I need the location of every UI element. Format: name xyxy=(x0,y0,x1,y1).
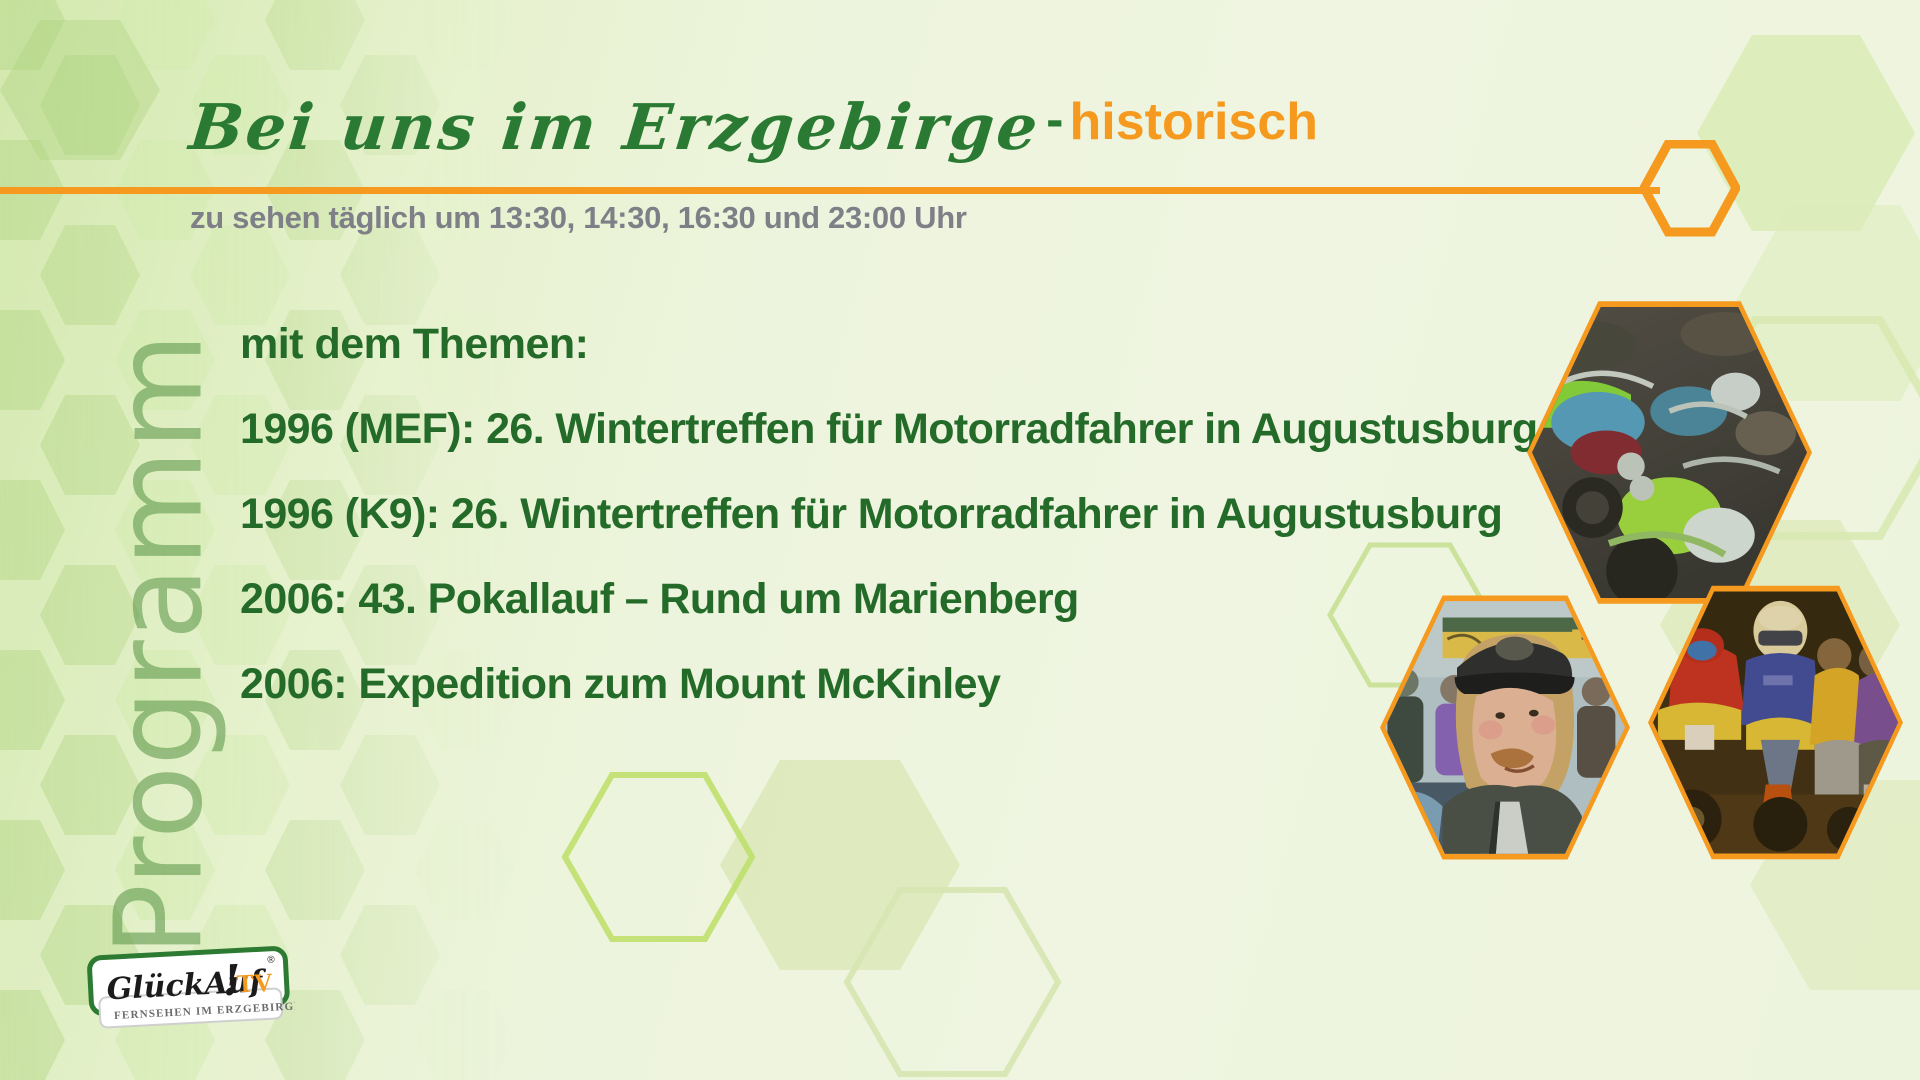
topic-list-heading: mit dem Themen: xyxy=(240,320,1538,369)
header-rule xyxy=(0,187,1660,194)
broadcast-times: zu sehen täglich um 13:30, 14:30, 16:30 … xyxy=(190,200,967,236)
list-item: 2006: 43. Pokallauf – Rund um Marienberg xyxy=(240,575,1538,624)
photo-biker-portrait xyxy=(1385,596,1625,859)
channel-logo: GlückAuf ! TV ® FERNSEHEN IM ERZGEBIRGE xyxy=(85,945,295,1040)
hexagon-outline-icon xyxy=(1640,140,1740,245)
page-title: Bei uns im Erzgebirge-historisch xyxy=(190,90,1318,164)
title-dash: - xyxy=(1040,90,1069,150)
list-item: 1996 (MEF): 26. Wintertreffen für Motorr… xyxy=(240,405,1538,454)
title-script-part: Bei uns im Erzgebirge xyxy=(186,90,1044,164)
topic-list: mit dem Themen: 1996 (MEF): 26. Wintertr… xyxy=(240,320,1538,745)
logo-registered-mark: ® xyxy=(267,954,276,965)
photo-hexagon-mopeds xyxy=(1527,295,1812,610)
vertical-section-label: Programm xyxy=(91,295,230,995)
photo-mopeds xyxy=(1532,301,1807,604)
photo-hexagon-biker-portrait xyxy=(1380,590,1630,865)
title-accent-part: historisch xyxy=(1070,92,1319,152)
slide-canvas: Programm Bei uns im Erzgebirge-historisc… xyxy=(0,0,1920,1080)
list-item: 2006: Expedition zum Mount McKinley xyxy=(240,660,1538,709)
list-item: 1996 (K9): 26. Wintertreffen für Motorra… xyxy=(240,490,1538,539)
photo-hexagon-motocross xyxy=(1648,580,1903,865)
logo-tv: TV xyxy=(236,968,274,999)
photo-motocross xyxy=(1653,586,1898,859)
